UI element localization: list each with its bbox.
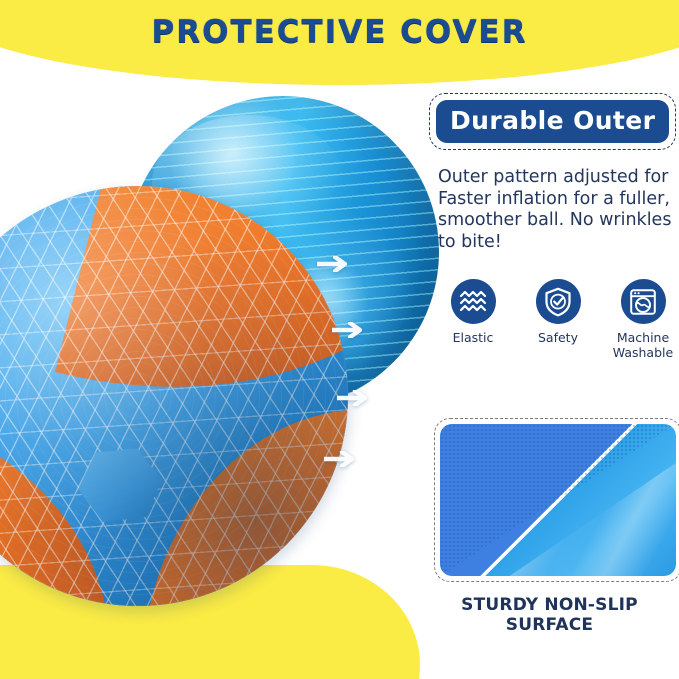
expansion-arrow-icon [324, 451, 358, 467]
hexagon-pattern-cover-ball [0, 186, 348, 606]
description-line-3: smoother ball. No wrinkles [438, 210, 674, 232]
expansion-arrow-icon [332, 322, 366, 338]
right-info-column: Durable Outer Outer pattern adjusted for… [420, 100, 679, 360]
product-infographic: PROTECTIVE COVER [0, 0, 679, 679]
surface-caption: STURDY NON-SLIP SURFACE [420, 595, 679, 635]
washing-machine-icon [621, 279, 666, 324]
feature-label: Machine Washable [604, 331, 679, 360]
description-line-1: Outer pattern adjusted for [438, 167, 674, 189]
description-line-4: to bite! [438, 232, 674, 254]
feature-label-line-2: Washable [604, 346, 679, 361]
waves-icon [451, 279, 496, 324]
feature-icon-row: Elastic Safety [434, 279, 679, 360]
feature-label-line-1: Machine [604, 331, 679, 346]
expansion-arrow-icon [317, 256, 351, 272]
surface-dashed-frame [434, 418, 679, 582]
expansion-arrow-icon [337, 390, 371, 406]
feature-elastic: Elastic [434, 279, 512, 360]
description-line-2: Faster inflation for a fuller, [438, 189, 674, 211]
badge-label: Durable Outer [436, 100, 669, 143]
description-text: Outer pattern adjusted for Faster inflat… [438, 167, 674, 253]
feature-label: Elastic [434, 331, 512, 346]
surface-swatch-image [440, 424, 676, 576]
feature-safety: Safety [519, 279, 597, 360]
surface-comparison-panel: STURDY NON-SLIP SURFACE [420, 418, 679, 635]
page-title: PROTECTIVE COVER [0, 14, 679, 50]
product-image-group [0, 76, 420, 679]
durable-outer-badge: Durable Outer [436, 100, 669, 143]
feature-label: Safety [519, 331, 597, 346]
shield-check-icon [536, 279, 581, 324]
feature-machine-washable: Machine Washable [604, 279, 679, 360]
